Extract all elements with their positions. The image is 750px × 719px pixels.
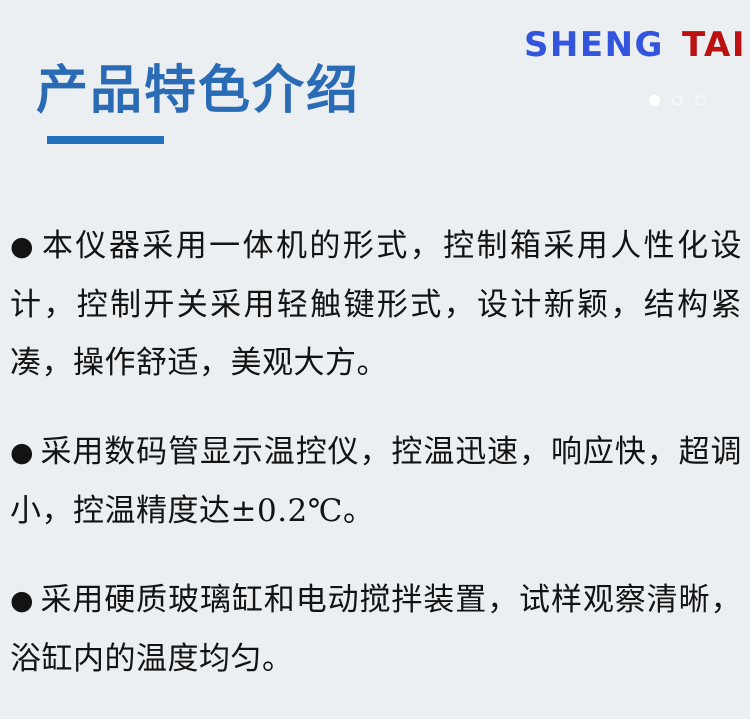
carousel-dot-1[interactable]	[649, 95, 660, 106]
list-item-text: 采用硬质玻璃缸和电动搅拌装置，试样观察清晰，浴缸内的温度均匀。	[10, 582, 742, 677]
list-item: ●采用数码管显示温控仪，控温迅速，响应快，超调小，控温精度达±0.2℃。	[10, 423, 742, 540]
carousel-dot-3[interactable]	[695, 95, 706, 106]
list-item-text: 本仪器采用一体机的形式，控制箱采用人性化设计，控制开关采用轻触键形式，设计新颖，…	[10, 228, 742, 381]
carousel-indicators[interactable]	[649, 95, 706, 106]
list-item-text: 采用数码管显示温控仪，控温迅速，响应快，超调小，控温精度达±0.2℃。	[10, 434, 742, 529]
page-title: 产品特色介绍	[36, 62, 360, 122]
bullet-icon: ●	[10, 585, 40, 616]
list-item: ●本仪器采用一体机的形式，控制箱采用人性化设计，控制开关采用轻触键形式，设计新颖…	[10, 217, 742, 392]
bullet-icon: ●	[10, 437, 40, 468]
feature-list: ●本仪器采用一体机的形式，控制箱采用人性化设计，控制开关采用轻触键形式，设计新颖…	[10, 186, 742, 719]
product-features-slide: SHENG TAI 产品特色介绍 ●本仪器采用一体机的形式，控制箱采用人性化设计…	[0, 0, 750, 698]
brand-name-primary: SHENG	[524, 28, 664, 62]
carousel-dot-2[interactable]	[672, 95, 683, 106]
brand-logo: SHENG TAI	[524, 28, 746, 62]
title-underline-rule	[47, 136, 164, 144]
title-block: 产品特色介绍	[36, 62, 360, 144]
brand-name-secondary: TAI	[682, 28, 746, 62]
bullet-icon: ●	[10, 231, 42, 262]
list-item: ●采用硬质玻璃缸和电动搅拌装置，试样观察清晰，浴缸内的温度均匀。	[10, 571, 742, 688]
